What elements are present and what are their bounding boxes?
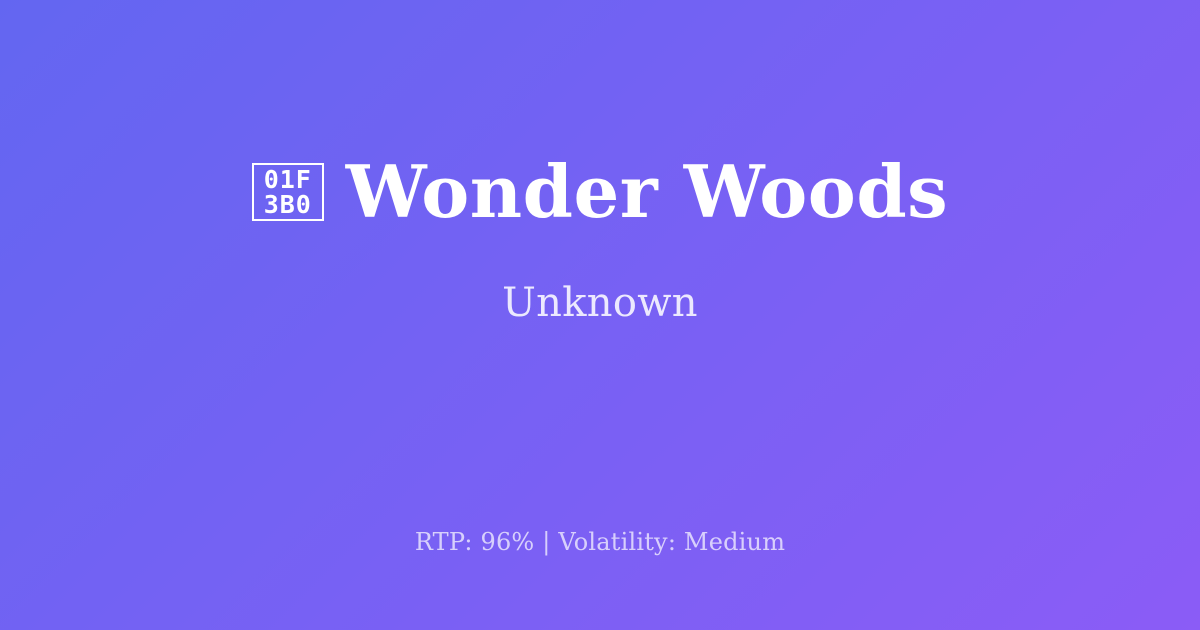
game-stats: RTP: 96% | Volatility: Medium bbox=[0, 528, 1200, 556]
provider-name: Unknown bbox=[502, 280, 698, 326]
slot-machine-icon: 01F 3B0 bbox=[252, 163, 324, 221]
title-row: 01F 3B0 Wonder Woods bbox=[252, 156, 948, 228]
page-title: Wonder Woods bbox=[346, 156, 948, 228]
tofu-codepoint-bottom: 3B0 bbox=[264, 192, 312, 218]
hero-section: 01F 3B0 Wonder Woods Unknown bbox=[0, 0, 1200, 500]
tofu-codepoint-top: 01F bbox=[264, 167, 312, 193]
